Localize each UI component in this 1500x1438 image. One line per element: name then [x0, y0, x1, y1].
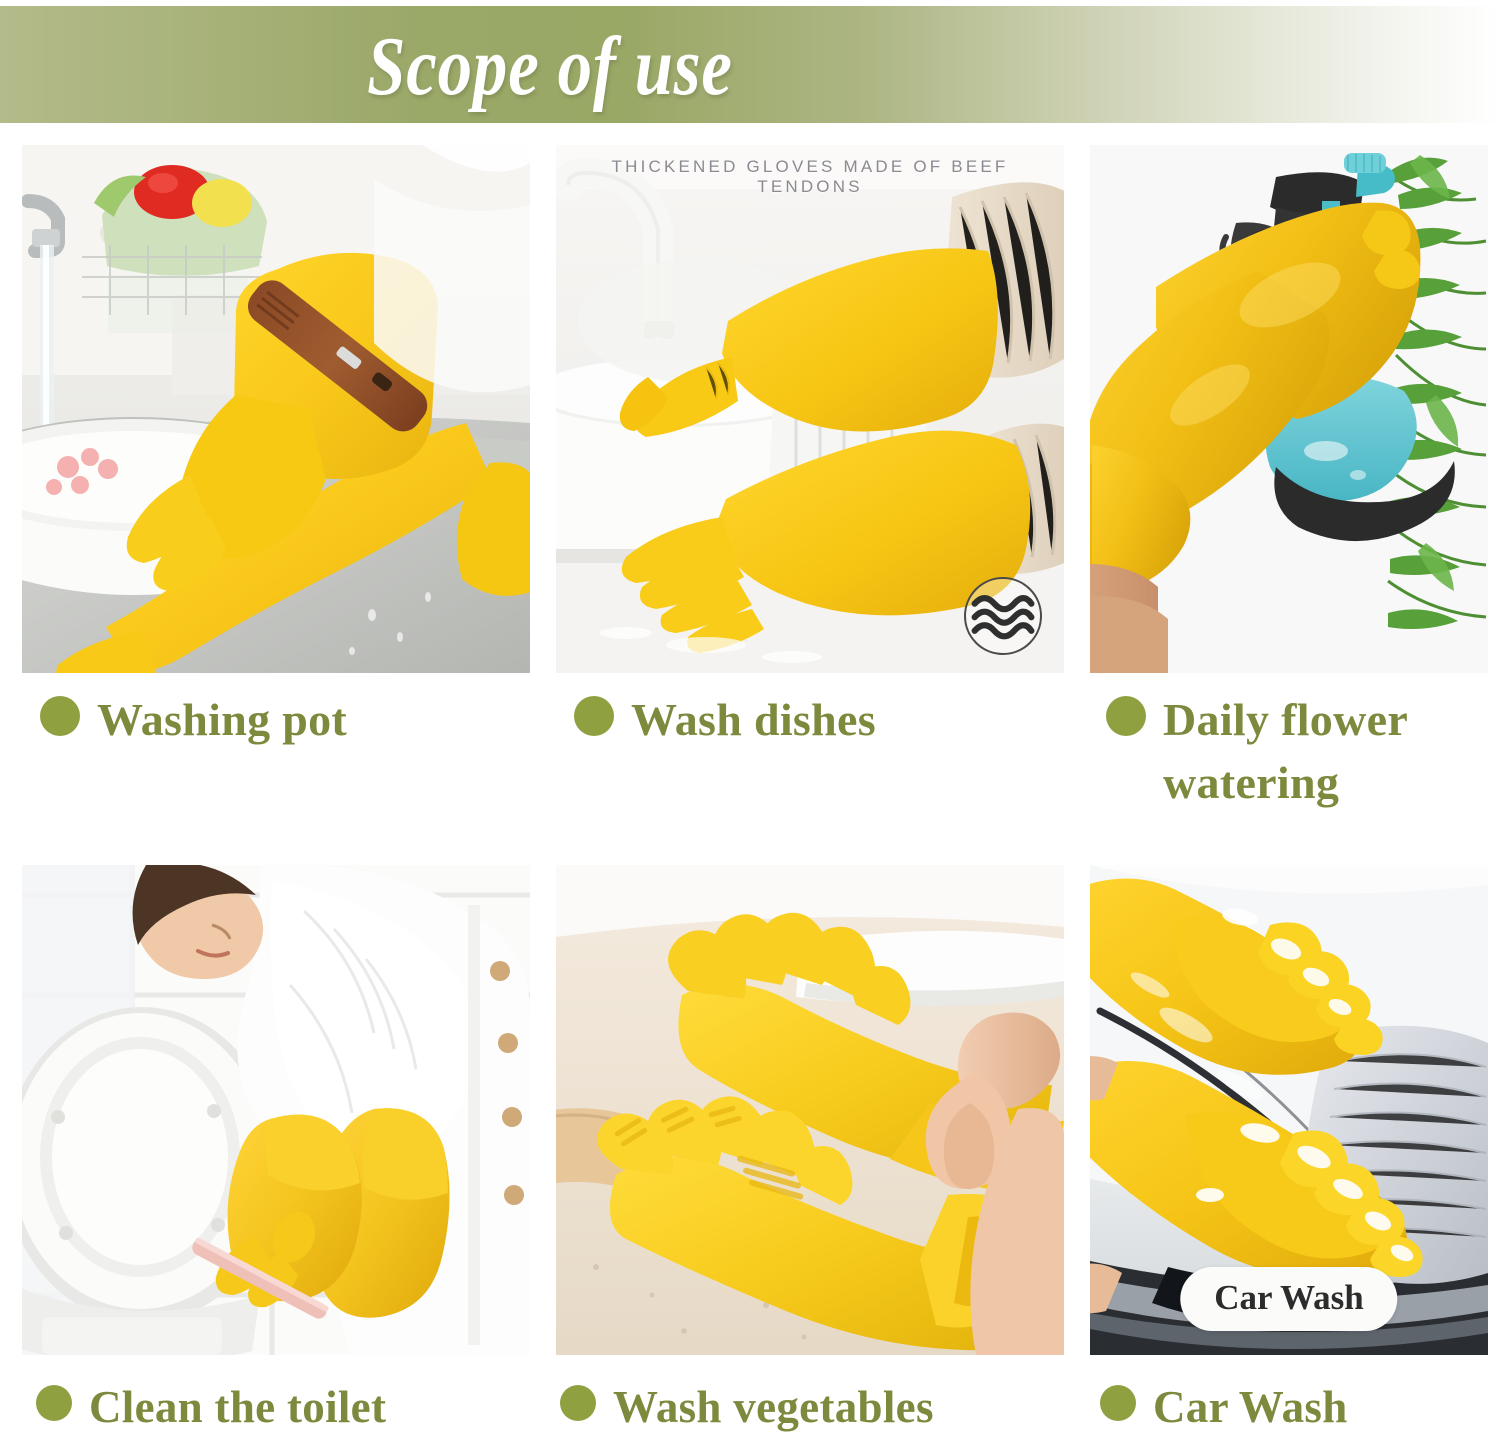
header-band: Scope of use: [0, 6, 1500, 123]
car-wash-pill-label: Car Wash: [1180, 1267, 1397, 1331]
caption-label: Washing pot: [97, 688, 347, 751]
bullet-icon: [560, 1385, 596, 1421]
bullet-icon: [1106, 696, 1146, 736]
photo-washing-pot: [22, 145, 530, 673]
use-case-card-car-wash: Car Wash: [1090, 865, 1488, 1355]
caption-daily-flower-watering: Daily flower watering: [1106, 688, 1496, 815]
caption-label: Wash dishes: [631, 688, 876, 751]
bullet-icon: [36, 1385, 72, 1421]
scope-of-use-infographic: Scope of use: [0, 0, 1500, 1429]
bullet-icon: [1100, 1385, 1136, 1421]
use-case-card-clean-the-toilet: [22, 865, 530, 1355]
use-case-card-daily-flower-watering: [1090, 145, 1488, 673]
water-wave-icon: [964, 577, 1042, 655]
bullet-icon: [574, 696, 614, 736]
caption-label: Daily flower watering: [1163, 688, 1496, 815]
photo-wash-dishes: THICKENED GLOVES MADE OF BEEF TENDONS: [556, 145, 1064, 673]
photo-clean-the-toilet: [22, 865, 530, 1355]
bullet-icon: [40, 696, 80, 736]
photo-wash-vegetables: [556, 865, 1064, 1355]
caption-wash-dishes: Wash dishes: [574, 688, 1074, 751]
caption-washing-pot: Washing pot: [40, 688, 540, 751]
photo-top-banner-text: THICKENED GLOVES MADE OF BEEF TENDONS: [556, 157, 1064, 197]
photo-daily-flower-watering: [1090, 145, 1488, 673]
page-title: Scope of use: [99, 10, 1001, 123]
use-case-card-wash-dishes: THICKENED GLOVES MADE OF BEEF TENDONS: [556, 145, 1064, 673]
use-case-card-washing-pot: [22, 145, 530, 673]
use-case-card-wash-vegetables: [556, 865, 1064, 1355]
photo-car-wash: Car Wash: [1090, 865, 1488, 1355]
use-case-grid: Washing pot: [0, 130, 1500, 1429]
